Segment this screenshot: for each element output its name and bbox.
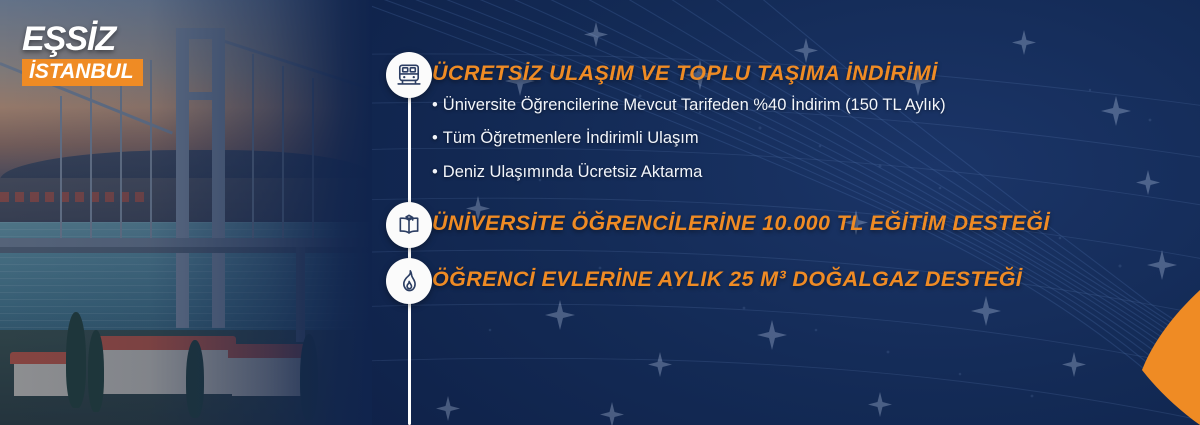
section-heading: ÜCRETSİZ ULAŞIM VE TOPLU TAŞIMA İNDİRİMİ — [432, 63, 946, 85]
section-natural-gas: ÖĞRENCİ EVLERİNE AYLIK 25 M³ DOĞALGAZ DE… — [432, 269, 1022, 291]
section-heading: ÜNİVERSİTE ÖĞRENCİLERİNE 10.000 TL EĞİTİ… — [432, 213, 1050, 235]
brand-line-istanbul: İSTANBUL — [22, 59, 143, 86]
campaign-banner: EŞSİZ İSTANBUL — [0, 0, 1200, 425]
list-item: •Tüm Öğretmenlere İndirimli Ulaşım — [432, 130, 946, 147]
bus-icon — [396, 62, 422, 88]
orange-corner-wedge — [1060, 290, 1200, 425]
pin-natural-gas — [386, 258, 432, 304]
section-bullet-list: •Üniversite Öğrencilerine Mevcut Tarifed… — [432, 97, 946, 181]
list-item-text: Tüm Öğretmenlere İndirimli Ulaşım — [443, 129, 699, 147]
bullet-marker: • — [432, 129, 438, 147]
pin-education — [386, 202, 432, 248]
list-item-text: Üniversite Öğrencilerine Mevcut Tarifede… — [443, 96, 946, 114]
section-transport: ÜCRETSİZ ULAŞIM VE TOPLU TAŞIMA İNDİRİMİ… — [432, 63, 946, 197]
section-heading: ÖĞRENCİ EVLERİNE AYLIK 25 M³ DOĞALGAZ DE… — [432, 269, 1022, 291]
list-item: •Üniversite Öğrencilerine Mevcut Tarifed… — [432, 97, 946, 114]
section-education: ÜNİVERSİTE ÖĞRENCİLERİNE 10.000 TL EĞİTİ… — [432, 213, 1050, 235]
bullet-marker: • — [432, 163, 438, 181]
pin-disc — [386, 52, 432, 98]
pin-disc — [386, 202, 432, 248]
pin-transport — [386, 52, 432, 98]
bullet-marker: • — [432, 96, 438, 114]
flame-icon — [396, 268, 422, 294]
pin-disc — [386, 258, 432, 304]
list-item: •Deniz Ulaşımında Ücretsiz Aktarma — [432, 164, 946, 181]
brand-line-essiz: EŞSİZ — [22, 22, 143, 56]
brand-logo: EŞSİZ İSTANBUL — [22, 22, 143, 86]
open-book-icon — [396, 212, 422, 238]
list-item-text: Deniz Ulaşımında Ücretsiz Aktarma — [443, 163, 703, 181]
